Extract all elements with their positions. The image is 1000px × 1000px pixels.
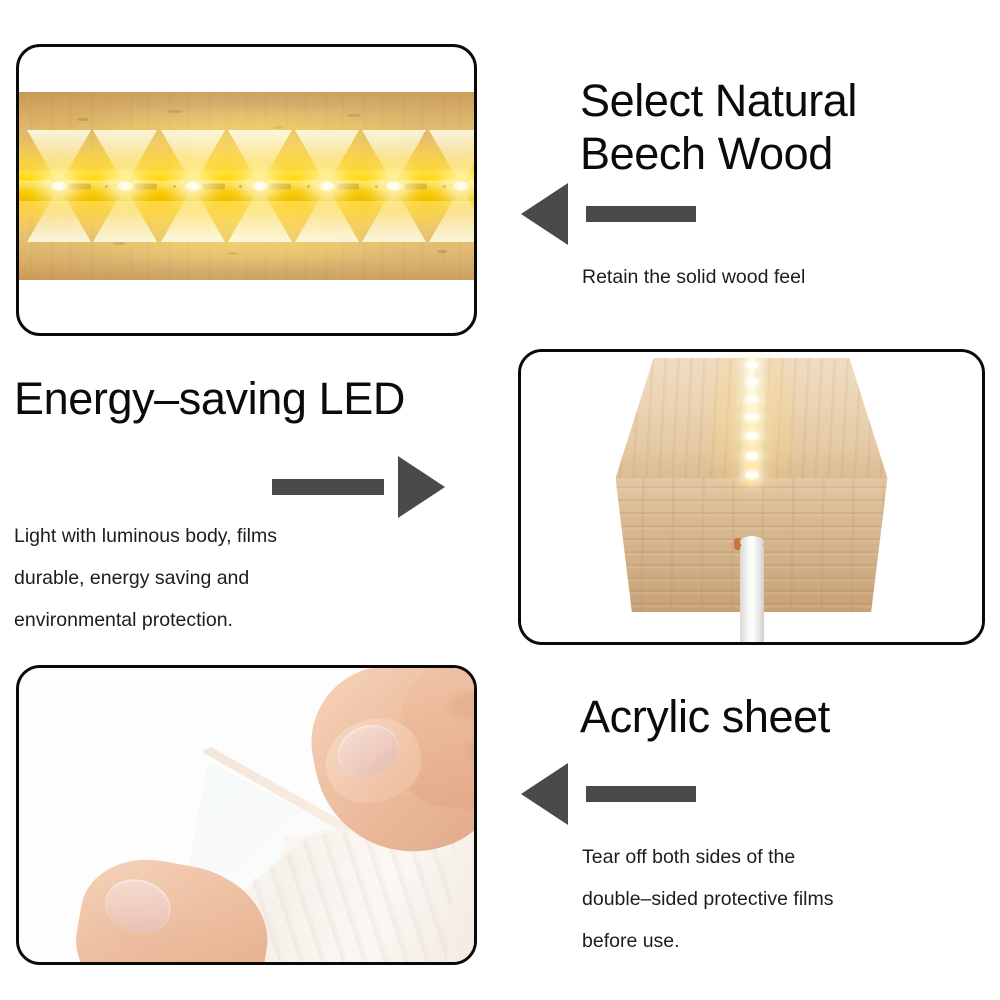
led-pcb-line	[17, 181, 476, 192]
arrow-left-beech	[521, 183, 696, 245]
subtext-acrylic: Tear off both sides of the double–sided …	[582, 836, 833, 962]
beech-block-with-lit-groove-photo	[521, 352, 982, 642]
arrow-head-left-icon	[521, 183, 568, 245]
led-light-dot	[115, 180, 135, 193]
arrow-head-left-icon	[521, 763, 568, 825]
groove-led-dot	[744, 394, 759, 404]
led-light-dot	[317, 180, 337, 193]
arrow-head-right-icon	[398, 456, 445, 518]
heading-energy-saving-led: Energy–saving LED	[14, 372, 405, 425]
hands-peeling-protective-film-photo	[19, 668, 474, 962]
groove-led-dot	[744, 431, 759, 441]
subtext-led: Light with luminous body, films durable,…	[14, 515, 277, 641]
groove-led-dot	[744, 360, 759, 370]
groove-led-dot	[744, 377, 759, 387]
led-light-dot	[183, 180, 203, 193]
groove-led-dot	[744, 470, 759, 480]
heading-acrylic-sheet: Acrylic sheet	[580, 690, 830, 743]
led-strip-photo-card	[16, 44, 477, 336]
led-strip-on-beech-board-photo	[17, 92, 476, 280]
led-light-dot	[250, 180, 270, 193]
acrylic-photo-card	[16, 665, 477, 965]
arrow-shaft	[586, 786, 696, 802]
groove-led-dot	[744, 412, 759, 422]
groove-led-dot	[744, 451, 759, 461]
led-light-dot	[49, 180, 69, 193]
power-cable	[740, 540, 764, 642]
wood-block-photo-card	[518, 349, 985, 645]
arrow-shaft	[272, 479, 384, 495]
heading-select-natural-beech-wood: Select Natural Beech Wood	[580, 74, 857, 180]
led-light-dot	[451, 180, 471, 193]
arrow-right-led	[272, 456, 447, 518]
subtext-beech: Retain the solid wood feel	[582, 256, 805, 298]
arrow-left-acrylic	[521, 763, 696, 825]
infographic-canvas: Select Natural Beech Wood Retain the sol…	[0, 0, 1000, 1000]
arrow-shaft	[586, 206, 696, 222]
led-light-dot	[384, 180, 404, 193]
